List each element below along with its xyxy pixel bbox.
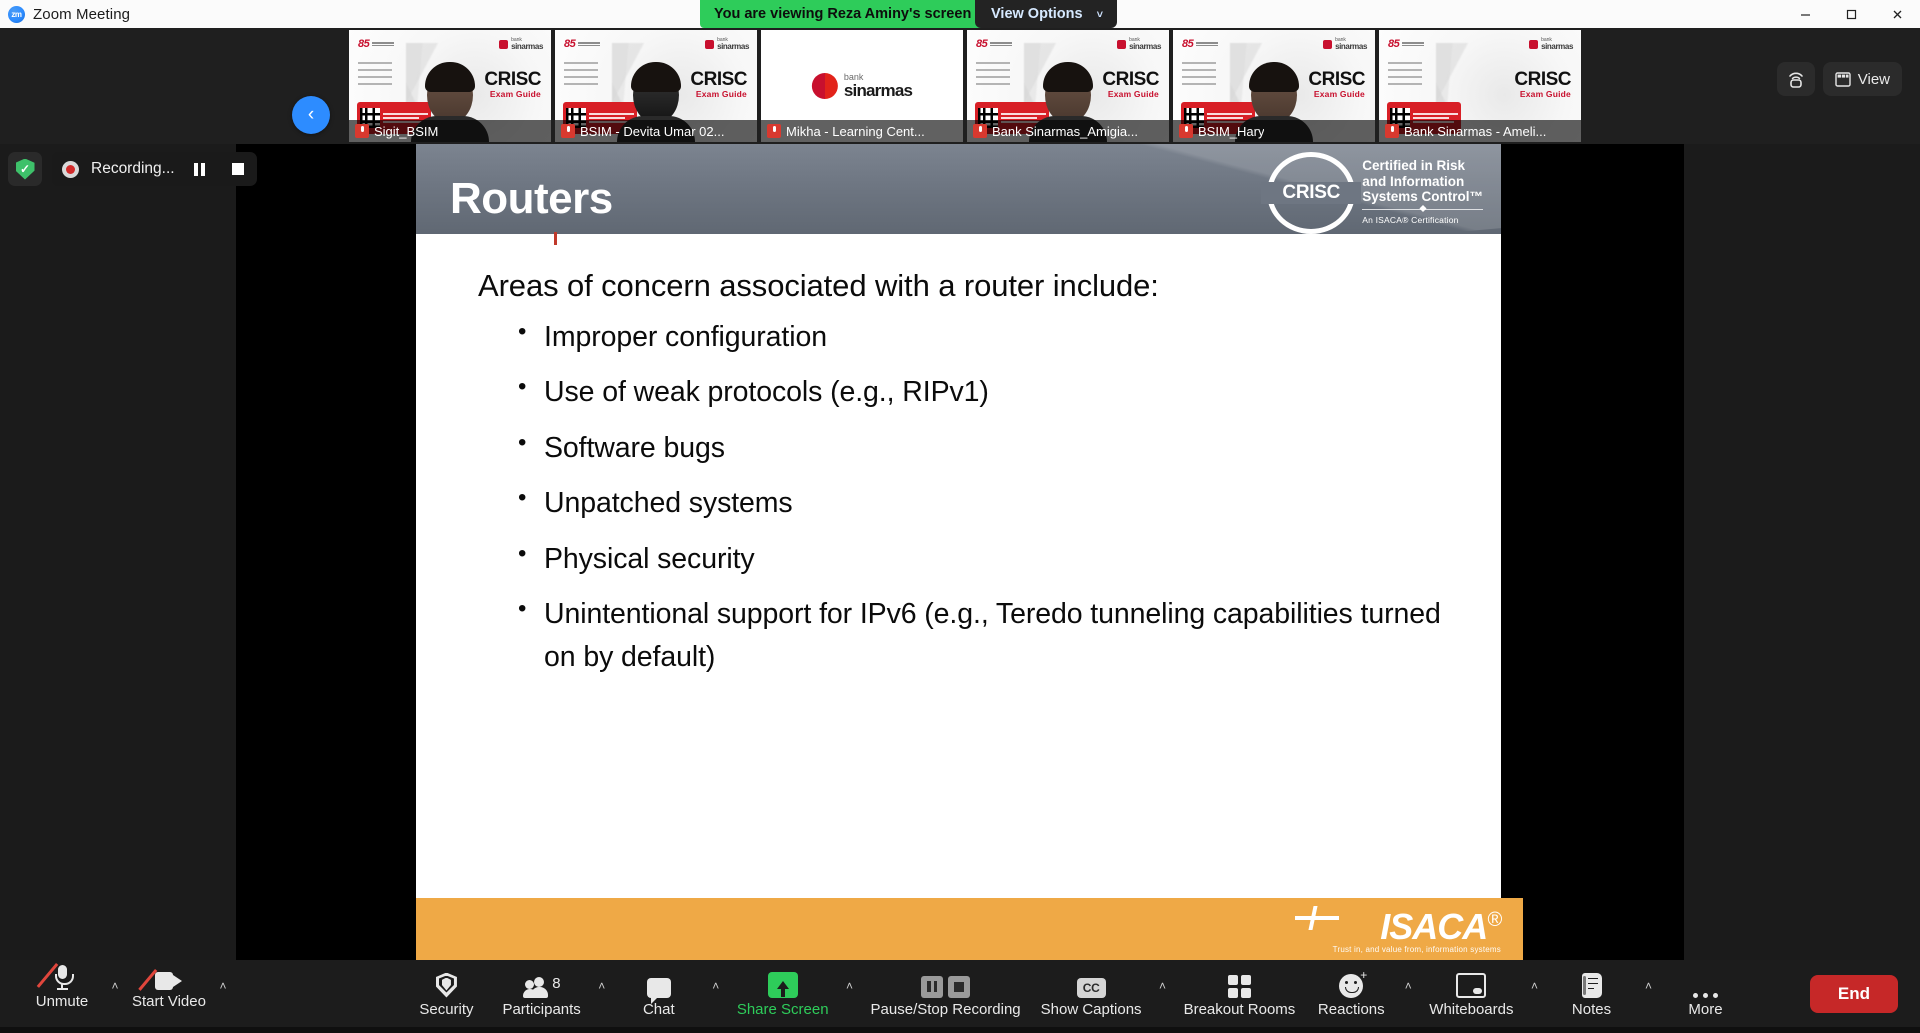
video-off-icon (155, 962, 182, 990)
shield-check-icon: ✓ (16, 159, 35, 180)
crisc-subtitle: Exam Guide (690, 89, 747, 99)
whiteboards-caret[interactable]: ˄ (1526, 955, 1544, 1033)
microphone-muted-icon (561, 124, 575, 138)
crisc-acronym: CRISC (1261, 182, 1361, 204)
sinarmas-mark-icon (705, 40, 714, 49)
thumbnail-bullet-lines (358, 62, 392, 85)
more-ellipsis-icon (1693, 970, 1718, 998)
view-options-label: View Options (991, 6, 1083, 22)
zoom-logo-icon: zm (8, 6, 25, 23)
thumbnail-name-bar: Sigit_BSIM (349, 120, 551, 142)
whiteboard-icon (1456, 970, 1486, 998)
crisc-ring-icon: CRISC (1267, 152, 1355, 234)
crisc-subtitle: Exam Guide (484, 89, 541, 99)
sinarmas-text: sinarmas (1541, 43, 1573, 51)
recording-status-text: Recording... (91, 160, 175, 178)
participant-name: BSIM_Hary (1198, 124, 1264, 139)
isaca-registered-mark: ® (1487, 909, 1501, 931)
record-dot-icon (62, 161, 79, 178)
participants-label: Participants (502, 1001, 580, 1018)
participant-name: Bank Sinarmas_Amigia... (992, 124, 1138, 139)
start-video-button[interactable]: Start Video (124, 955, 214, 1017)
isaca-tagline: Trust in, and value from, information sy… (1333, 945, 1501, 954)
unmute-label: Unmute (36, 993, 89, 1010)
pause-stop-recording-button[interactable]: Pause/Stop Recording (863, 963, 1029, 1025)
notes-button[interactable]: Notes (1548, 963, 1636, 1025)
crisc-line-3: Systems Control™ (1362, 189, 1483, 205)
crisc-logo: CRISC Certified in Risk and Information … (1267, 152, 1483, 234)
participant-thumbnail[interactable]: 85 banksinarmas CRISC Exam Guide (1173, 30, 1375, 142)
show-captions-button[interactable]: CC Show Captions (1033, 963, 1150, 1025)
slide-red-marker (554, 232, 557, 245)
reactions-icon: + (1339, 970, 1363, 998)
participants-icon: 8 (525, 970, 559, 998)
grid-view-icon (1835, 72, 1851, 87)
thumbnail-crisc-logo: CRISC Exam Guide (1308, 70, 1365, 99)
reactions-button[interactable]: + Reactions (1307, 963, 1395, 1025)
notes-caret[interactable]: ˄ (1640, 955, 1658, 1033)
toolbar-center-group: Security 8 Participants ˄ Chat ˄ Sha (232, 955, 1920, 1033)
view-options-button[interactable]: View Options ˅ (975, 0, 1117, 28)
bank-logo-name: sinarmas (844, 82, 912, 99)
chat-label: Chat (643, 1001, 675, 1018)
brand-85-logo: 85 (976, 38, 1012, 50)
brand-85-logo: 85 (1182, 38, 1218, 50)
sinarmas-mark-icon (499, 40, 508, 49)
sinarmas-text: sinarmas (717, 43, 749, 51)
brand-85-lines (372, 42, 394, 46)
participant-thumbnail[interactable]: 85 banksinarmas CRISC Exam Guide (349, 30, 551, 142)
crisc-acronym: CRISC (690, 70, 747, 89)
filmstrip-prev-button[interactable]: ‹ (292, 96, 330, 134)
chevron-left-icon: ‹ (308, 104, 314, 126)
presentation-slide: Routers CRISC Certified in Risk and Info… (416, 144, 1501, 960)
sinarmas-text: sinarmas (511, 43, 543, 51)
slide-bullet: Use of weak protocols (e.g., RIPv1) (544, 371, 1471, 413)
breakout-rooms-label: Breakout Rooms (1184, 1001, 1296, 1018)
shield-icon (436, 970, 457, 998)
pause-stop-recording-label: Pause/Stop Recording (871, 1001, 1021, 1018)
slide-bullet-list: Improper configuration Use of weak proto… (478, 316, 1471, 678)
audio-options-caret[interactable]: ˄ (106, 955, 124, 1033)
chat-bubble-icon (647, 970, 671, 998)
sinarmas-mark-icon (1323, 40, 1332, 49)
brand-85-logo: 85 (564, 38, 600, 50)
sinarmas-mark-icon (1117, 40, 1126, 49)
slide-footer: ISACA® Trust in, and value from, informa… (416, 898, 1523, 960)
zoom-meeting-window: zm Zoom Meeting You are viewing Reza Ami… (0, 0, 1920, 1027)
thumbnail-name-bar: BSIM - Devita Umar 02... (555, 120, 757, 142)
thumbnail-name-bar: Mikha - Learning Cent... (761, 120, 963, 142)
reactions-label: Reactions (1318, 1001, 1385, 1018)
pause-recording-button[interactable] (187, 156, 213, 182)
unmute-button[interactable]: Unmute (18, 955, 106, 1017)
security-button[interactable]: Security (402, 963, 490, 1025)
thumbnail-name-bar: Bank Sinarmas_Amigia... (967, 120, 1169, 142)
microphone-muted-icon (355, 124, 369, 138)
sinarmas-mark-icon (1529, 40, 1538, 49)
maximize-icon[interactable] (1828, 0, 1874, 28)
view-button-label: View (1858, 71, 1890, 88)
thumbnail-bullet-lines (1388, 62, 1422, 85)
brand-85-number: 85 (358, 38, 369, 50)
share-status-banner: You are viewing Reza Aminy's screen (700, 0, 985, 28)
thumbnail-bullet-lines (976, 62, 1010, 85)
sinarmas-logo: banksinarmas (705, 38, 749, 51)
more-label: More (1688, 1001, 1722, 1018)
start-video-label: Start Video (132, 993, 206, 1010)
microphone-muted-icon (54, 962, 70, 990)
slide-bullet: Physical security (544, 538, 1471, 580)
crisc-acronym: CRISC (1102, 70, 1159, 89)
participant-name: Sigit_BSIM (374, 124, 438, 139)
notes-icon (1582, 970, 1602, 998)
thumbnail-name-bar: Bank Sinarmas - Ameli... (1379, 120, 1581, 142)
thumbnail-list: 85 banksinarmas CRISC Exam Guide (349, 30, 1581, 142)
breakout-rooms-icon (1228, 970, 1251, 998)
brand-85-number: 85 (1182, 38, 1193, 50)
sinarmas-logo: banksinarmas (1529, 38, 1573, 51)
participants-caret[interactable]: ˄ (593, 955, 611, 1033)
recording-status-bar: Recording... (52, 152, 257, 186)
share-screen-icon (768, 970, 798, 998)
crisc-divider (1362, 209, 1483, 210)
thumbnail-crisc-logo: CRISC Exam Guide (1102, 70, 1159, 99)
share-screen-caret[interactable]: ˄ (841, 955, 859, 1033)
brand-85-lines (990, 42, 1012, 46)
crisc-line-2: and Information (1362, 174, 1483, 190)
close-icon[interactable] (1874, 0, 1920, 28)
sinarmas-text: sinarmas (1335, 43, 1367, 51)
sinarmas-logo: banksinarmas (1323, 38, 1367, 51)
cast-icon[interactable] (1777, 62, 1815, 96)
thumbnail-bullet-lines (1182, 62, 1216, 85)
crisc-subtitle: Exam Guide (1102, 89, 1159, 99)
closed-captions-icon: CC (1077, 970, 1106, 998)
slide-bullet: Unintentional support for IPv6 (e.g., Te… (544, 593, 1471, 678)
crisc-subtitle: Exam Guide (1514, 89, 1571, 99)
shared-screen-stage: Routers CRISC Certified in Risk and Info… (236, 144, 1684, 960)
minimize-icon[interactable] (1782, 0, 1828, 28)
view-button[interactable]: View (1823, 62, 1902, 96)
thumbnail-crisc-logo: CRISC Exam Guide (1514, 70, 1571, 99)
participant-name: Mikha - Learning Cent... (786, 124, 925, 139)
participants-button[interactable]: 8 Participants (494, 963, 588, 1025)
isaca-brand-text: ISACA (1380, 906, 1487, 947)
sinarmas-logo: banksinarmas (499, 38, 543, 51)
thumbnail-name-bar: BSIM_Hary (1173, 120, 1375, 142)
brand-85-number: 85 (564, 38, 575, 50)
share-status-text: You are viewing Reza Aminy's screen (714, 6, 971, 22)
crisc-certification-note: An ISACA® Certification (1362, 213, 1483, 229)
show-captions-label: Show Captions (1041, 1001, 1142, 1018)
brand-85-lines (578, 42, 600, 46)
notes-label: Notes (1572, 1001, 1611, 1018)
share-screen-button[interactable]: Share Screen (729, 963, 837, 1025)
sinarmas-logo: banksinarmas (1117, 38, 1161, 51)
video-options-caret[interactable]: ˄ (214, 955, 232, 1033)
crisc-subtitle: Exam Guide (1308, 89, 1365, 99)
slide-body: Areas of concern associated with a route… (416, 234, 1501, 678)
recording-controls: ✓ Recording... (8, 152, 257, 186)
participant-filmstrip: ‹ 85 banksinarmas CRISC Exam (0, 28, 1920, 144)
more-button[interactable]: More (1662, 963, 1750, 1025)
whiteboards-label: Whiteboards (1429, 1001, 1513, 1018)
pause-stop-recording-icon (921, 970, 970, 998)
brand-85-lines (1402, 42, 1424, 46)
slide-bullet: Software bugs (544, 427, 1471, 469)
crisc-acronym: CRISC (1514, 70, 1571, 89)
participant-thumbnail[interactable]: 85 banksinarmas CRISC Exam Guide (967, 30, 1169, 142)
pause-icon (194, 163, 205, 176)
participant-thumbnail[interactable]: 85 banksinarmas CRISC Exam Guide (1379, 30, 1581, 142)
brand-85-logo: 85 (358, 38, 394, 50)
participant-thumbnail[interactable]: 85 banksinarmas CRISC Exam Guide (555, 30, 757, 142)
brand-85-lines (1196, 42, 1218, 46)
isaca-logo: ISACA® Trust in, and value from, informa… (1333, 904, 1501, 954)
captions-caret[interactable]: ˄ (1154, 955, 1172, 1033)
thumbnail-bullet-lines (564, 62, 598, 85)
crisc-wordmark: Certified in Risk and Information System… (1362, 158, 1483, 228)
participant-thumbnail[interactable]: bank sinarmas Mikha - Learning Cent... (761, 30, 963, 142)
brand-85-logo: 85 (1388, 38, 1424, 50)
top-right-controls: View (1777, 62, 1902, 96)
meeting-toolbar: Unmute ˄ Start Video ˄ Security 8 (0, 960, 1920, 1027)
thumbnail-crisc-logo: CRISC Exam Guide (690, 70, 747, 99)
microphone-muted-icon (973, 124, 987, 138)
slide-bullet: Improper configuration (544, 316, 1471, 358)
thumbnail-crisc-logo: CRISC Exam Guide (484, 70, 541, 99)
end-meeting-button[interactable]: End (1810, 975, 1898, 1013)
window-title: Zoom Meeting (33, 6, 130, 23)
participant-name: Bank Sinarmas - Ameli... (1404, 124, 1546, 139)
slide-header: Routers CRISC Certified in Risk and Info… (416, 144, 1501, 234)
isaca-wordmark: ISACA® (1333, 904, 1501, 943)
microphone-muted-icon (1179, 124, 1193, 138)
meeting-security-button[interactable]: ✓ (8, 152, 42, 186)
chat-button[interactable]: Chat (615, 963, 703, 1025)
brand-85-number: 85 (1388, 38, 1399, 50)
slide-title: Routers (450, 174, 613, 224)
share-screen-label: Share Screen (737, 1001, 829, 1018)
brand-85-number: 85 (976, 38, 987, 50)
microphone-muted-icon (1385, 124, 1399, 138)
crisc-acronym: CRISC (484, 70, 541, 89)
breakout-rooms-button[interactable]: Breakout Rooms (1176, 963, 1304, 1025)
reactions-caret[interactable]: ˄ (1399, 955, 1417, 1033)
crisc-acronym: CRISC (1308, 70, 1365, 89)
chat-caret[interactable]: ˄ (707, 955, 725, 1033)
slide-lead-text: Areas of concern associated with a route… (478, 268, 1471, 304)
sinarmas-text: sinarmas (1129, 43, 1161, 51)
participants-count: 8 (552, 975, 560, 992)
chevron-down-icon: ˅ (1097, 9, 1103, 21)
whiteboards-button[interactable]: Whiteboards (1421, 963, 1521, 1025)
stop-icon (232, 163, 244, 175)
bank-mark-icon (812, 73, 838, 99)
bank-sinarmas-logo: bank sinarmas (812, 73, 912, 99)
security-label: Security (419, 1001, 473, 1018)
toolbar-left-group: Unmute ˄ Start Video ˄ (18, 955, 232, 1033)
participant-name: BSIM - Devita Umar 02... (580, 124, 724, 139)
slide-bullet: Unpatched systems (544, 482, 1471, 524)
crisc-line-1: Certified in Risk (1362, 158, 1483, 174)
microphone-muted-icon (767, 124, 781, 138)
stop-recording-button[interactable] (225, 156, 251, 182)
